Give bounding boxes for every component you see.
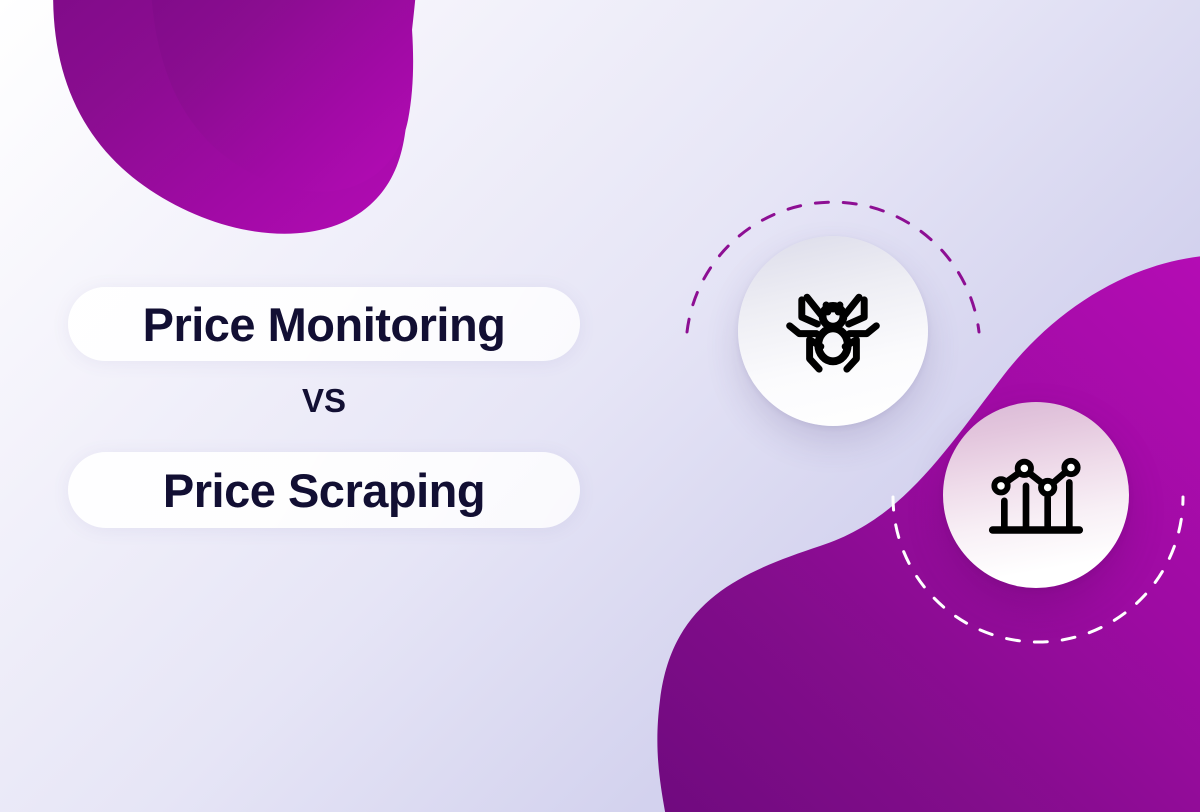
versus-label: VS <box>68 382 580 420</box>
purple-blob-top-left-lobe <box>150 0 413 192</box>
purple-blob-top-left <box>53 0 420 234</box>
spider-icon <box>781 279 885 383</box>
price-scraping-label: Price Scraping <box>163 463 485 518</box>
price-scraping-pill: Price Scraping <box>68 452 580 528</box>
promo-banner: Price Monitoring VS Price Scraping <box>0 0 1200 812</box>
chart-node-2 <box>1018 462 1031 475</box>
chart-icon-circle <box>943 402 1129 588</box>
chart-node-3 <box>1041 481 1054 494</box>
price-monitoring-pill: Price Monitoring <box>68 287 580 361</box>
bar-line-chart-icon <box>986 449 1086 541</box>
chart-node-1 <box>994 479 1007 492</box>
spider-icon-circle <box>738 236 928 426</box>
chart-node-4 <box>1064 461 1077 474</box>
price-monitoring-label: Price Monitoring <box>143 297 506 352</box>
